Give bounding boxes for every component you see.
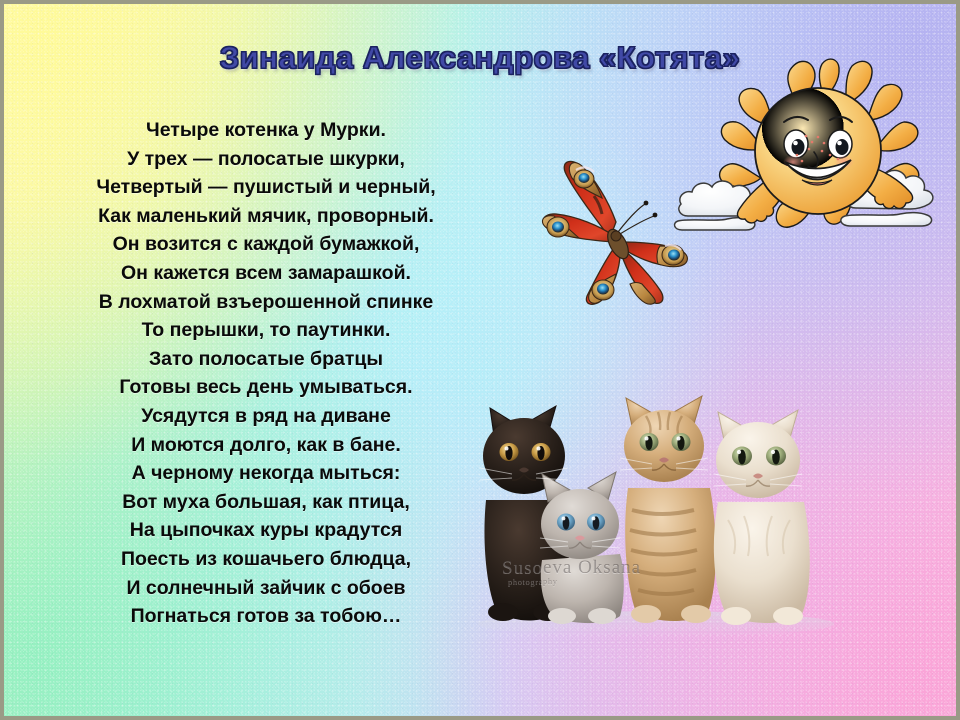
kitten-grey-head: [541, 489, 619, 559]
butterfly-antenna-tip-right: [653, 213, 658, 218]
butterfly-antennae: [618, 204, 654, 234]
poem-text-block: Четыре котенка у Мурки. У трех — полосат…: [68, 116, 464, 631]
poem-line: И моются долго, как в бане.: [68, 431, 464, 460]
poem-line: Он кажется всем замарашкой.: [68, 259, 464, 288]
sun-face: [755, 88, 881, 214]
butterfly-wing-hind-left: [586, 248, 620, 304]
butterfly-illustration: [532, 156, 702, 306]
slide-root: Зинаида Александрова «Котята» Четыре кот…: [0, 0, 960, 720]
kitten-grey-tabby: [541, 472, 624, 624]
butterfly-head: [611, 231, 621, 241]
kitten-orange-tabby: [624, 396, 716, 623]
poem-line: У трех — полосатые шкурки,: [68, 145, 464, 174]
poem-line: Поесть из кошачьего блюдца,: [68, 545, 464, 574]
butterfly-antenna-tip-left: [644, 201, 649, 206]
poem-line: Зато полосатые братцы: [68, 345, 464, 374]
poem-line: Погнаться готов за тобою…: [68, 602, 464, 631]
poem-line: В лохматой взъерошенной спинке: [68, 288, 464, 317]
poem-line: Как маленький мячик, проворный.: [68, 202, 464, 231]
poem-line: Четвертый — пушистый и черный,: [68, 173, 464, 202]
poem-line: На цыпочках куры крадутся: [68, 516, 464, 545]
kittens-photo: [456, 390, 856, 638]
poem-line: И солнечный зайчик с обоев: [68, 574, 464, 603]
poem-line: Усядутся в ряд на диване: [68, 402, 464, 431]
sun-illustration: [672, 56, 960, 246]
kitten-orange-head: [624, 410, 704, 482]
kitten-cream-fluffy: [714, 410, 810, 625]
slide-title: Зинаида Александрова «Котята»: [4, 40, 956, 76]
poem-line: Четыре котенка у Мурки.: [68, 116, 464, 145]
poem-line: А черному некогда мыться:: [68, 459, 464, 488]
poem-line: Вот муха большая, как птица,: [68, 488, 464, 517]
poem-line: Готовы весь день умываться.: [68, 373, 464, 402]
kitten-cream-head: [716, 422, 800, 498]
poem-line: То перышки, то паутинки.: [68, 316, 464, 345]
poem-line: Он возится с каждой бумажкой,: [68, 230, 464, 259]
